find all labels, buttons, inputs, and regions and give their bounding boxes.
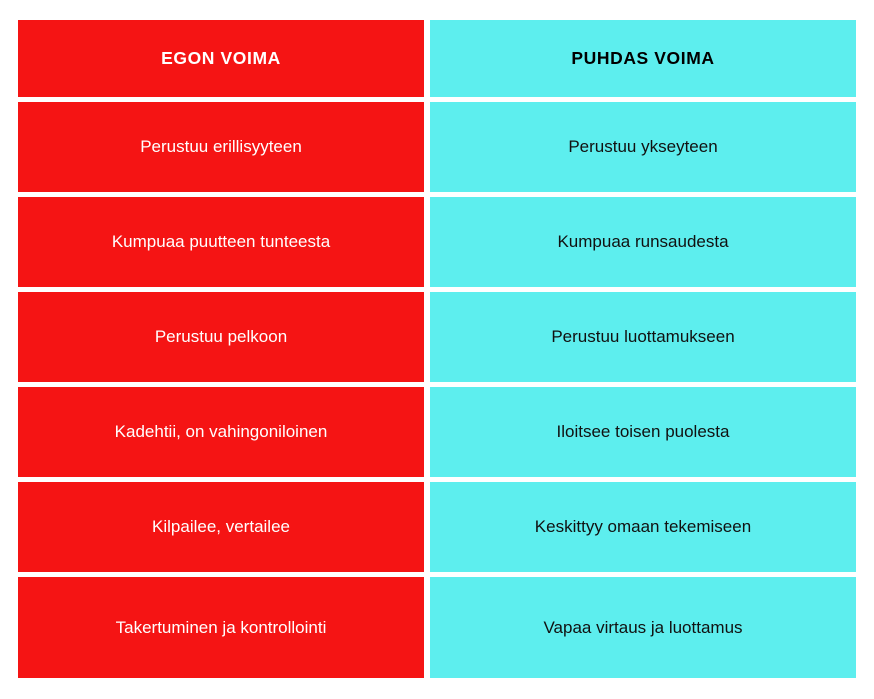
table-cell-right: Perustuu luottamukseen (430, 292, 856, 382)
table-cell-right: Kumpuaa runsaudesta (430, 197, 856, 287)
table-header-row: EGON VOIMA PUHDAS VOIMA (18, 20, 856, 97)
comparison-table: EGON VOIMA PUHDAS VOIMA Perustuu erillis… (18, 20, 856, 678)
table-row: Perustuu erillisyyteen Perustuu ykseytee… (18, 102, 856, 192)
table-row: Perustuu pelkoon Perustuu luottamukseen (18, 292, 856, 382)
table-cell-left: Kumpuaa puutteen tunteesta (18, 197, 424, 287)
table-cell-left: Takertuminen ja kontrollointi (18, 577, 424, 678)
table-cell-left: Kadehtii, on vahingoniloinen (18, 387, 424, 477)
table-row: Takertuminen ja kontrollointi Vapaa virt… (18, 577, 856, 678)
table-header-cell-egon-voima: EGON VOIMA (18, 20, 424, 97)
table-row: Kadehtii, on vahingoniloinen Iloitsee to… (18, 387, 856, 477)
table-cell-right: Vapaa virtaus ja luottamus (430, 577, 856, 678)
table-row: Kilpailee, vertailee Keskittyy omaan tek… (18, 482, 856, 572)
table-cell-left: Perustuu erillisyyteen (18, 102, 424, 192)
table-cell-right: Keskittyy omaan tekemiseen (430, 482, 856, 572)
table-header-cell-puhdas-voima: PUHDAS VOIMA (430, 20, 856, 97)
table-cell-right: Iloitsee toisen puolesta (430, 387, 856, 477)
table-cell-left: Kilpailee, vertailee (18, 482, 424, 572)
table-cell-right: Perustuu ykseyteen (430, 102, 856, 192)
table-row: Kumpuaa puutteen tunteesta Kumpuaa runsa… (18, 197, 856, 287)
table-cell-left: Perustuu pelkoon (18, 292, 424, 382)
